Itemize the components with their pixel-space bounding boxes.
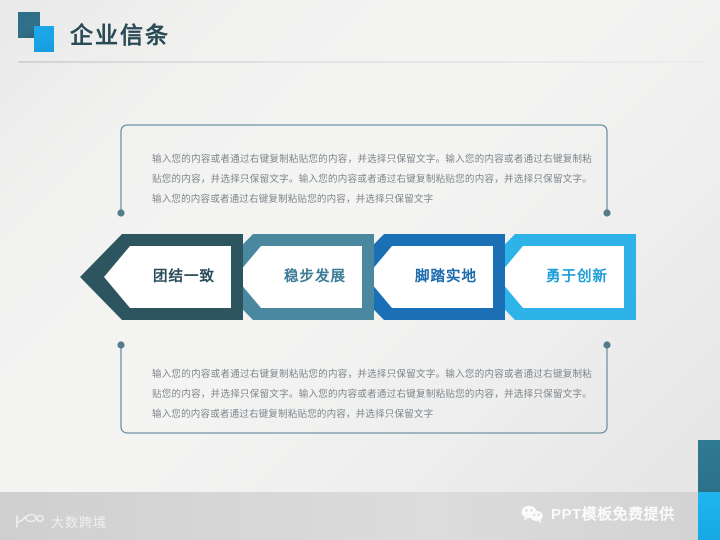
wechat-icon <box>520 504 544 524</box>
edge-accent-bar-bottom <box>698 492 720 540</box>
edge-accent-bar-top <box>698 440 720 492</box>
page-title: 企业信条 <box>70 16 170 50</box>
chevron-step-4-label: 勇于创新 <box>525 265 629 286</box>
two-squares-logo-icon <box>18 12 62 52</box>
slide-canvas: 企业信条 输入您的内容或者通过右键复制粘贴您的内容，并选择只保留文字。输入您的内… <box>0 0 720 540</box>
brand-mark-icon <box>14 513 46 530</box>
watermark-text: 大数跨境 <box>51 512 107 531</box>
chevron-process-row: 团结一致 稳步发展 脚踏实地 勇于创新 <box>80 234 636 320</box>
lower-body-text: 输入您的内容或者通过右键复制粘贴您的内容，并选择只保留文字。输入您的内容或者通过… <box>152 365 592 425</box>
upper-body-text: 输入您的内容或者通过右键复制粘贴您的内容，并选择只保留文字。输入您的内容或者通过… <box>152 150 592 210</box>
chevron-step-1-label: 团结一致 <box>132 265 236 286</box>
chevron-step-2-label: 稳步发展 <box>263 265 367 286</box>
header-divider <box>18 61 702 63</box>
slide-header: 企业信条 <box>0 0 720 66</box>
promo-text: PPT模板免费提供 <box>551 503 675 524</box>
promo-badge[interactable]: PPT模板免费提供 <box>520 503 675 524</box>
chevron-step-1[interactable]: 团结一致 <box>80 234 243 320</box>
chevron-step-3-label: 脚踏实地 <box>394 265 498 286</box>
watermark: 大数跨境 <box>14 512 107 531</box>
logo-square-light <box>34 26 54 52</box>
